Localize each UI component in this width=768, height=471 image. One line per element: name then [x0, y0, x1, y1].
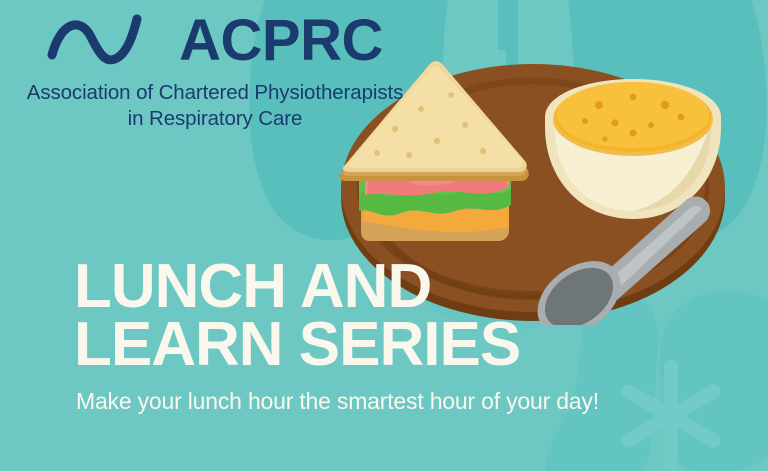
acprc-tagline-line-2: in Respiratory Care [0, 106, 430, 132]
headline: LUNCH AND LEARN SERIES [74, 258, 520, 373]
acprc-tagline: Association of Chartered Physiotherapist… [0, 80, 430, 132]
headline-line-1: LUNCH AND [74, 258, 520, 316]
subhead: Make your lunch hour the smartest hour o… [76, 388, 599, 415]
acprc-tagline-line-1: Association of Chartered Physiotherapist… [0, 80, 430, 106]
acprc-logo: ACPRC Association of Chartered Physiothe… [0, 8, 430, 132]
acprc-wave-mark [47, 11, 165, 71]
acprc-wordmark: ACPRC [179, 12, 383, 70]
lunch-and-learn-banner: ACPRC Association of Chartered Physiothe… [0, 0, 768, 471]
headline-line-2: LEARN SERIES [74, 316, 520, 374]
